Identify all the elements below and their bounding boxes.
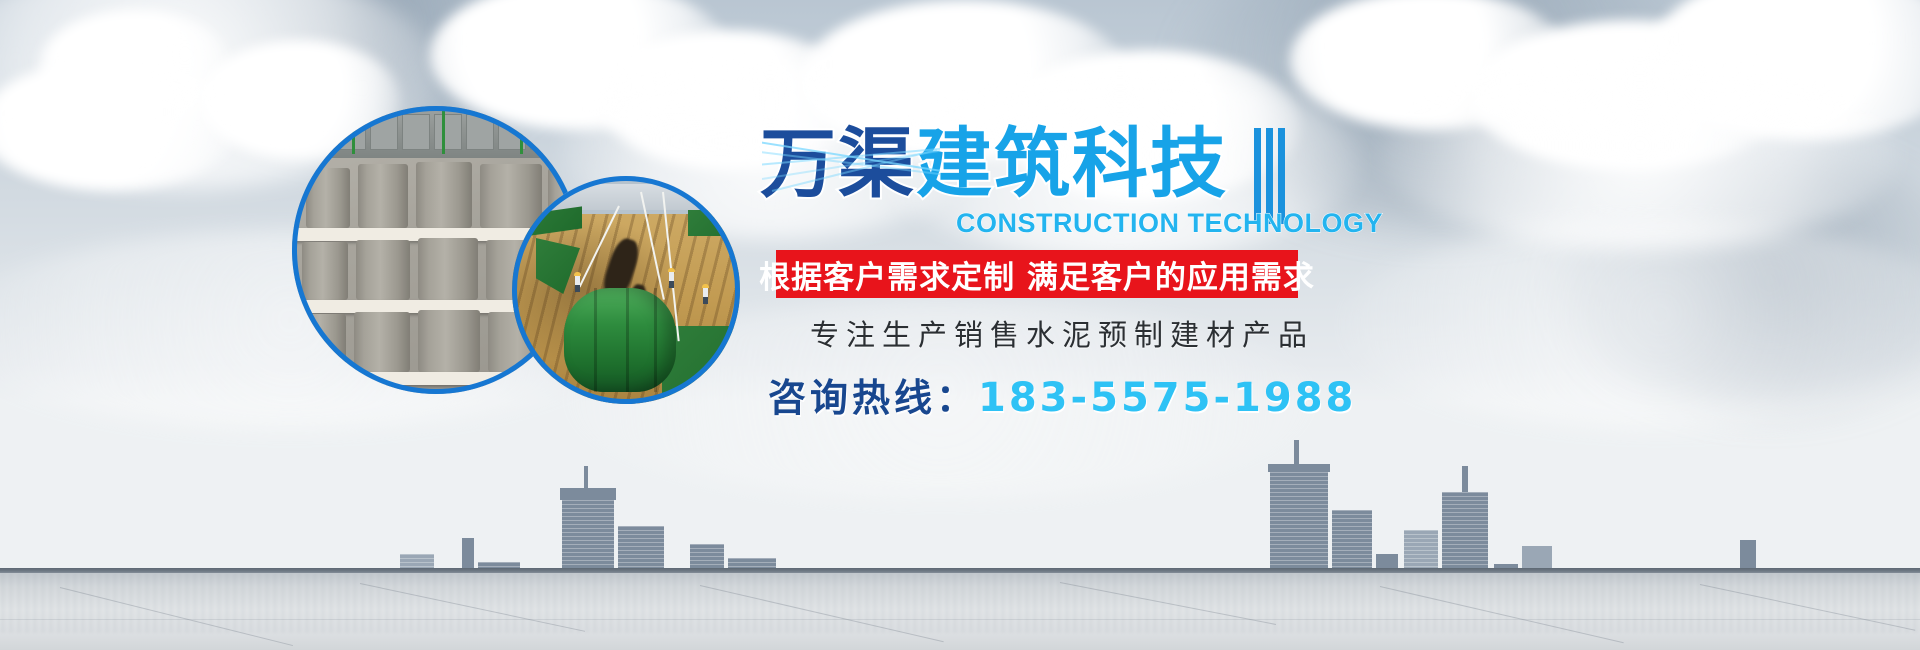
worker-figure — [668, 268, 675, 288]
banner-text-block: 万渠建筑科技 CONSTRUCTION TECHNOLOGY 根据客户需求定制 … — [760, 122, 1890, 542]
brand-title: 万渠建筑科技 — [760, 122, 1228, 206]
brand-logo: 万渠建筑科技 — [760, 122, 1890, 210]
promo-banner: 万渠建筑科技 CONSTRUCTION TECHNOLOGY 根据客户需求定制 … — [0, 0, 1920, 650]
photo-buried-septic-tank-site — [512, 176, 740, 404]
red-slogan-text: 根据客户需求定制 满足客户的应用需求 — [759, 252, 1315, 297]
brand-title-part1: 万渠 — [760, 119, 916, 208]
reflective-ground — [0, 573, 1920, 650]
sub-slogan-text: 专注生产销售水泥预制建材产品 — [810, 312, 1314, 354]
hotline-line: 咨询热线：183-5575-1988 — [768, 367, 1356, 422]
worker-figure — [574, 272, 581, 292]
red-slogan-bar: 根据客户需求定制 满足客户的应用需求 — [776, 250, 1298, 298]
brand-subtitle-en: CONSTRUCTION TECHNOLOGY — [956, 208, 1383, 239]
brand-title-part2: 建筑科技 — [916, 119, 1228, 208]
hotline-number[interactable]: 183-5575-1988 — [978, 375, 1356, 421]
hotline-label: 咨询热线： — [768, 376, 978, 420]
worker-figure — [702, 284, 709, 304]
